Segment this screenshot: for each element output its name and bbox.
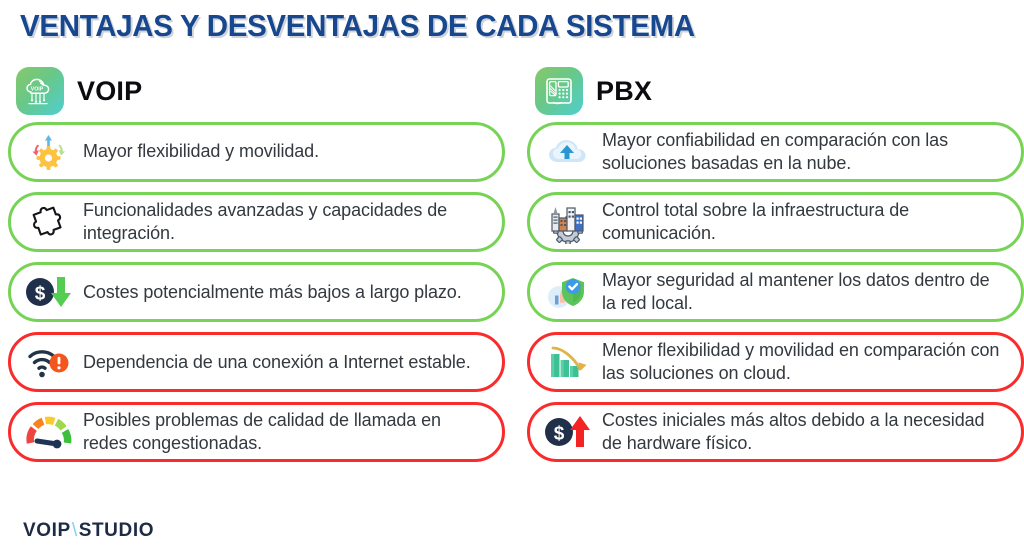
card-voip-3[interactable]: $ Costes potencialmente más bajos a larg… — [8, 262, 505, 322]
svg-text:VOIP: VOIP — [31, 86, 44, 92]
buildings-gear-icon — [540, 199, 596, 245]
card-list-pbx: Mayor confiabilidad en comparación con l… — [527, 122, 1024, 462]
page-title: VENTAJAS Y DESVENTAJAS DE CADA SISTEMA — [20, 8, 695, 44]
comparison-columns: VOIP VOIP — [0, 62, 1024, 462]
card-text: Dependencia de una conexión a Internet e… — [83, 351, 471, 374]
wifi-warning-icon — [21, 339, 77, 385]
desk-phone-icon — [535, 67, 583, 115]
card-voip-4[interactable]: Dependencia de una conexión a Internet e… — [8, 332, 505, 392]
flexibility-arrows-gear-icon — [21, 129, 77, 175]
column-title-voip: VOIP — [77, 76, 142, 107]
column-pbx: PBX Mayor confiabilidad en comparación c… — [527, 62, 1024, 462]
column-title-pbx: PBX — [596, 76, 652, 107]
card-voip-2[interactable]: Funcionalidades avanzadas y capacidades … — [8, 192, 505, 252]
dollar-coin-down-arrow-icon: $ — [21, 269, 77, 315]
card-pbx-1[interactable]: Mayor confiabilidad en comparación con l… — [527, 122, 1024, 182]
card-text: Mayor seguridad al mantener los datos de… — [602, 269, 1007, 315]
shield-check-thumbsup-icon — [540, 269, 596, 315]
column-header-pbx: PBX — [527, 62, 1024, 120]
dollar-coin-up-arrow-icon: $ — [540, 409, 596, 455]
logo-part1: VOIP — [23, 520, 71, 542]
cloud-upload-icon — [540, 129, 596, 175]
card-pbx-5[interactable]: $ Costes iniciales más altos debido a la… — [527, 402, 1024, 462]
card-text: Menor flexibilidad y movilidad en compar… — [602, 339, 1007, 385]
svg-text:$: $ — [35, 284, 46, 305]
card-text: Mayor confiabilidad en comparación con l… — [602, 129, 1007, 175]
card-text: Costes iniciales más altos debido a la n… — [602, 409, 1007, 455]
puzzle-piece-icon — [21, 199, 77, 245]
logo-separator: \ — [71, 520, 79, 542]
card-text: Posibles problemas de calidad de llamada… — [83, 409, 488, 455]
speedometer-gauge-icon — [21, 409, 77, 455]
card-pbx-2[interactable]: Control total sobre la infraestructura d… — [527, 192, 1024, 252]
card-text: Mayor flexibilidad y movilidad. — [83, 140, 319, 163]
logo-part2: STUDIO — [79, 520, 154, 542]
card-pbx-3[interactable]: Mayor seguridad al mantener los datos de… — [527, 262, 1024, 322]
column-header-voip: VOIP VOIP — [8, 62, 505, 120]
voipstudio-logo[interactable]: VOIP\STUDIO — [23, 520, 154, 542]
card-text: Control total sobre la infraestructura d… — [602, 199, 1007, 245]
voip-cloud-phone-icon: VOIP — [16, 67, 64, 115]
svg-text:$: $ — [554, 424, 565, 445]
card-list-voip: Mayor flexibilidad y movilidad. Funciona… — [8, 122, 505, 462]
declining-bar-chart-icon — [540, 339, 596, 385]
card-voip-1[interactable]: Mayor flexibilidad y movilidad. — [8, 122, 505, 182]
card-text: Costes potencialmente más bajos a largo … — [83, 281, 462, 304]
card-pbx-4[interactable]: Menor flexibilidad y movilidad en compar… — [527, 332, 1024, 392]
column-voip: VOIP VOIP — [8, 62, 505, 462]
card-voip-5[interactable]: Posibles problemas de calidad de llamada… — [8, 402, 505, 462]
card-text: Funcionalidades avanzadas y capacidades … — [83, 199, 488, 245]
